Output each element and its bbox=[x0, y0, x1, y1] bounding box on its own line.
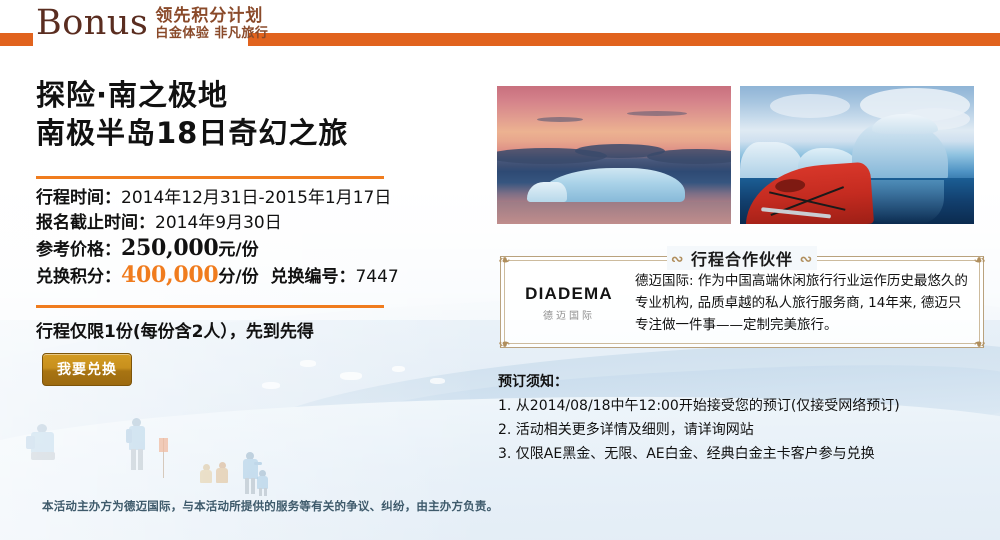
trip-time-value: 2014年12月31日-2015年1月17日 bbox=[121, 188, 391, 208]
partner-title-wrap: ∾ 行程合作伙伴 ∾ bbox=[667, 246, 817, 270]
points-value: 400,000 bbox=[121, 262, 218, 288]
deadline-row: 报名截止时间：2014年9月30日 bbox=[36, 211, 470, 236]
partner-brand-name-cn: 德迈国际 bbox=[515, 307, 623, 322]
partner-body: DIADEMA 德迈国际 德迈国际: 作为中国高端休闲旅行行业运作历史最悠久的专… bbox=[515, 270, 969, 336]
price-label: 参考价格： bbox=[36, 240, 121, 260]
ornament-corner-icon: ❧ bbox=[498, 336, 513, 351]
brand-logo-cn: 领先积分计划 白金体验 非凡旅行 bbox=[155, 7, 268, 44]
booking-notice: 预订须知： 1. 从2014/08/18中午12:00开始接受您的预订(仅接受网… bbox=[498, 370, 988, 466]
footer-disclaimer: 本活动主办方为德迈国际，与本活动所提供的服务等有关的争议、纠纷，由主办方负责。 bbox=[0, 498, 1000, 514]
partner-logo: DIADEMA 德迈国际 bbox=[515, 270, 623, 322]
kayak-iceberg-photo[interactable] bbox=[740, 86, 974, 224]
iceberg-sunset-photo[interactable] bbox=[497, 86, 731, 224]
code-label: 兑换编号： bbox=[270, 267, 355, 287]
swirl-right-icon: ∾ bbox=[800, 250, 814, 268]
deadline-value: 2014年9月30日 bbox=[155, 213, 282, 233]
offer-info-list: 行程时间：2014年12月31日-2015年1月17日 报名截止时间：2014年… bbox=[0, 179, 470, 298]
partner-title: ∾ 行程合作伙伴 ∾ bbox=[501, 246, 983, 270]
points-label: 兑换积分： bbox=[36, 267, 121, 287]
booking-notice-item: 2. 活动相关更多详情及细则，请详询网站 bbox=[498, 418, 988, 442]
booking-notice-item: 3. 仅限AE黑金、无限、AE白金、经典白金主卡客户参与兑换 bbox=[498, 442, 988, 466]
price-unit: 元/份 bbox=[218, 240, 258, 260]
brand-tagline-line1: 领先积分计划 bbox=[155, 7, 268, 26]
swirl-left-icon: ∾ bbox=[671, 250, 685, 268]
partner-title-text: 行程合作伙伴 bbox=[691, 250, 793, 269]
booking-notice-title: 预订须知： bbox=[498, 370, 988, 394]
partner-brand-name: DIADEMA bbox=[515, 284, 623, 304]
page-header: Bonus 领先积分计划 白金体验 非凡旅行 bbox=[0, 0, 1000, 58]
brand-logo-text: Bonus bbox=[36, 2, 148, 44]
deadline-label: 报名截止时间： bbox=[36, 213, 155, 233]
partner-description: 德迈国际: 作为中国高端休闲旅行行业运作历史最悠久的专业机构, 品质卓越的私人旅… bbox=[635, 270, 969, 336]
page-title: 探险·南之极地 南极半岛18日奇幻之旅 bbox=[0, 62, 470, 152]
booking-notice-item: 1. 从2014/08/18中午12:00开始接受您的预订(仅接受网络预订) bbox=[498, 394, 988, 418]
offer-details-column: 探险·南之极地 南极半岛18日奇幻之旅 行程时间：2014年12月31日-201… bbox=[0, 62, 470, 386]
ornament-corner-icon: ❧ bbox=[971, 336, 986, 351]
points-row: 兑换积分：400,000分/份 兑换编号：7447 bbox=[36, 263, 470, 290]
partner-section: ❧ ❧ ❧ ❧ ∾ 行程合作伙伴 ∾ DIADEMA 德迈国际 德迈国际: 作为… bbox=[500, 256, 984, 348]
code-value: 7447 bbox=[355, 267, 398, 287]
exchange-button[interactable]: 我要兑换 bbox=[42, 353, 132, 386]
trip-time-row: 行程时间：2014年12月31日-2015年1月17日 bbox=[36, 186, 470, 211]
partner-frame: ❧ ❧ ❧ ❧ ∾ 行程合作伙伴 ∾ DIADEMA 德迈国际 德迈国际: 作为… bbox=[500, 256, 984, 348]
page-title-line2: 南极半岛18日奇幻之旅 bbox=[36, 114, 470, 152]
quota-note: 行程仅限1份(每份含2人），先到先得 bbox=[0, 308, 470, 342]
price-row: 参考价格：250,000元/份 bbox=[36, 236, 470, 263]
points-unit: 分/份 bbox=[218, 267, 258, 287]
trip-time-label: 行程时间： bbox=[36, 188, 121, 208]
price-value: 250,000 bbox=[121, 235, 218, 261]
brand-logo[interactable]: Bonus 领先积分计划 白金体验 非凡旅行 bbox=[36, 2, 268, 44]
page-title-line1: 探险·南之极地 bbox=[36, 76, 470, 114]
photo-gallery bbox=[497, 86, 974, 224]
brand-tagline-line2: 白金体验 非凡旅行 bbox=[155, 26, 268, 41]
page-footer: 本活动主办方为德迈国际，与本活动所提供的服务等有关的争议、纠纷，由主办方负责。 bbox=[0, 498, 1000, 514]
exchange-button-wrap: 我要兑换 bbox=[0, 342, 470, 386]
